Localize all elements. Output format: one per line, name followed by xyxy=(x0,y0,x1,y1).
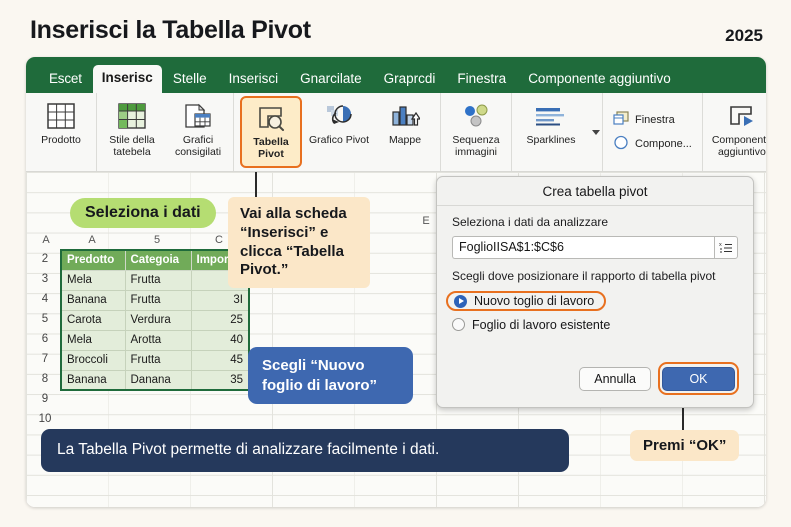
chevron-down-icon[interactable] xyxy=(592,130,600,135)
ribbon-group-sparklines: Sparklines xyxy=(512,93,603,171)
ok-button[interactable]: OK xyxy=(662,367,734,391)
row-header-9[interactable]: 9 xyxy=(32,389,58,409)
ribbon-button-label: Grafico Pivot xyxy=(309,135,369,147)
ribbon-button-sequenza-immagini[interactable]: Sequenza immagini xyxy=(443,93,509,171)
ribbon-row-label: Finestra xyxy=(635,114,675,126)
row-header-4[interactable]: 4 xyxy=(32,289,58,309)
row-header-5[interactable]: 5 xyxy=(32,309,58,329)
table-row[interactable]: Carota Verdura 25 xyxy=(61,310,249,330)
ribbon-tab-finestra[interactable]: Finestra xyxy=(446,67,517,94)
ribbon-button-grafici-consigliati[interactable]: Grafici consigilati xyxy=(165,93,231,171)
table-row[interactable]: Broccoli Frutta 45 xyxy=(61,350,249,370)
callout-premi-ok: Premi “OK” xyxy=(630,430,739,461)
sparklines-icon xyxy=(533,100,569,132)
ribbon-button-grafico-pivot[interactable]: Grafico Pivot xyxy=(306,93,372,171)
cell-product[interactable]: Broccoli xyxy=(61,350,125,370)
ribbon-button-label: Stile della tatebela xyxy=(99,135,165,159)
maps-icon xyxy=(390,100,420,132)
ribbon-button-mappe[interactable]: Mappe xyxy=(372,93,438,171)
radio-option-existing-worksheet[interactable]: Foglio di lavoro esistente xyxy=(452,314,738,335)
component-circle-icon xyxy=(613,135,629,153)
page-header: Inserisci la Tabella Pivot 2025 xyxy=(0,0,791,56)
ribbon-tab-bar: Escet Inserisc Stelle Inserisci Gnarcila… xyxy=(26,57,766,93)
column-header-predotto[interactable]: Predotto xyxy=(61,250,125,270)
row-header-10[interactable]: 10 xyxy=(32,409,58,429)
year-label: 2025 xyxy=(725,26,763,46)
cell-amount[interactable]: 40 xyxy=(191,330,249,350)
ribbon-stack-finestra: Finestra Compone... xyxy=(605,93,700,171)
callout-seleziona-dati: Seleziona i dati xyxy=(70,198,216,228)
recommended-charts-icon xyxy=(183,100,213,132)
ribbon-tab-stelle[interactable]: Stelle xyxy=(162,67,218,94)
range-input[interactable]: FoglioIISA$1:$C$6 xyxy=(452,236,714,259)
row-header-8[interactable]: 8 xyxy=(32,369,58,389)
column-header-b[interactable]: 5 xyxy=(124,231,190,249)
cell-amount[interactable]: 35 xyxy=(191,370,249,390)
table-row[interactable]: Mela Arotta 40 xyxy=(61,330,249,350)
cell-category[interactable]: Arotta xyxy=(125,330,191,350)
cell-product[interactable]: Mela xyxy=(61,270,125,290)
callout-summary: La Tabella Pivot permette di analizzare … xyxy=(41,429,569,472)
pivot-chart-icon xyxy=(324,100,354,132)
ribbon-tab-inserisci[interactable]: Inserisc xyxy=(93,65,162,94)
ribbon-button-tabella-pivot[interactable]: Tabella Pivot xyxy=(240,96,302,168)
row-header-7[interactable]: 7 xyxy=(32,349,58,369)
ribbon-tab-file[interactable]: Escet xyxy=(38,67,93,94)
table-header-row: Predotto Categoia Importo xyxy=(61,250,249,270)
addin-icon xyxy=(727,100,757,132)
ribbon-button-stile-tabella[interactable]: Stile della tatebela xyxy=(99,93,165,171)
cell-category[interactable]: Frutta xyxy=(125,290,191,310)
ribbon-button-label: Componente aggiuntivo xyxy=(705,135,766,159)
ribbon-button-label: Tabella Pivot xyxy=(242,137,300,161)
table-row[interactable]: Banana Danana 35 xyxy=(61,370,249,390)
cell-amount[interactable]: 25 xyxy=(191,310,249,330)
range-picker-icon[interactable]: x xyxy=(714,236,738,259)
ribbon-button-label: Grafici consigilati xyxy=(165,135,231,159)
ribbon-group-pivot: Tabella Pivot Grafico Pivot xyxy=(234,93,441,171)
image-sequence-icon xyxy=(461,100,491,132)
cell-amount[interactable]: 45 xyxy=(191,350,249,370)
placement-label: Scegli dove posizionare il rapporto di t… xyxy=(452,269,738,285)
ribbon-row-label: Compone... xyxy=(635,138,692,150)
column-header-a0[interactable]: A xyxy=(32,231,60,249)
cell-category[interactable]: Frutta xyxy=(125,270,191,290)
create-pivot-table-dialog: Crea tabella pivot Seleziona i dati da a… xyxy=(436,176,754,408)
row-header-6[interactable]: 6 xyxy=(32,329,58,349)
radio-option-new-worksheet[interactable]: Nuovo toglio di lavoro xyxy=(446,291,606,311)
ribbon-tab-gnarcilate[interactable]: Gnarcilate xyxy=(289,67,373,94)
svg-text:x: x xyxy=(719,242,722,248)
table-row[interactable]: Banana Frutta 3I xyxy=(61,290,249,310)
cancel-button[interactable]: Annulla xyxy=(579,367,651,391)
ok-button-highlight: OK xyxy=(658,362,739,395)
page-title: Inserisci la Tabella Pivot xyxy=(30,16,311,45)
ribbon-button-finestra[interactable]: Finestra xyxy=(613,111,692,129)
row-header-2[interactable]: 2 xyxy=(32,249,58,269)
radio-unselected-icon[interactable] xyxy=(452,318,465,331)
ribbon-group-addin: Componente aggiuntivo xyxy=(703,93,766,171)
ribbon-button-componente-aggiuntivo[interactable]: Componente aggiuntivo xyxy=(705,93,766,171)
cell-product[interactable]: Carota xyxy=(61,310,125,330)
ribbon-toolbar: Prodotto Stile della ta xyxy=(26,93,766,172)
cell-category[interactable]: Danana xyxy=(125,370,191,390)
range-field-label: Seleziona i dati da analizzare xyxy=(452,215,738,231)
range-field-group: FoglioIISA$1:$C$6 x xyxy=(452,236,738,259)
table-style-icon xyxy=(118,100,146,132)
ribbon-group-prodotto: Prodotto xyxy=(26,93,97,171)
ribbon-button-label: Sequenza immagini xyxy=(443,135,509,159)
ribbon-button-label: Prodotto xyxy=(41,135,81,147)
pivot-table-icon xyxy=(257,102,285,134)
data-table[interactable]: Predotto Categoia Importo Mela Frutta 5 … xyxy=(60,249,250,391)
ribbon-group-sequenza: Sequenza immagini xyxy=(441,93,512,171)
radio-selected-icon[interactable] xyxy=(454,295,467,308)
dialog-title: Crea tabella pivot xyxy=(437,177,753,206)
radio-option-existing-label: Foglio di lavoro esistente xyxy=(472,318,610,332)
ribbon-button-prodotto[interactable]: Prodotto xyxy=(28,93,94,171)
radio-option-new-label: Nuovo toglio di lavoro xyxy=(474,294,594,308)
ribbon-tab-componente-aggiuntivo[interactable]: Componente aggiuntivo xyxy=(517,67,682,94)
callout-vai-alla-scheda: Vai alla scheda “Inserisci” e clicca “Ta… xyxy=(228,197,370,288)
table-grid-icon xyxy=(47,100,75,132)
dialog-body: Seleziona i dati da analizzare FoglioIIS… xyxy=(437,206,753,335)
column-header-categoia[interactable]: Categoia xyxy=(125,250,191,270)
row-header-3[interactable]: 3 xyxy=(32,269,58,289)
ribbon-group-tabelle: Stile della tatebela Grafici consigilati xyxy=(97,93,234,171)
window-icon xyxy=(613,111,629,129)
ribbon-button-label: Sparklines xyxy=(526,135,575,147)
table-row[interactable]: Mela Frutta 5 xyxy=(61,270,249,290)
callout-leader-line xyxy=(255,172,257,197)
cell-category[interactable]: Frutta xyxy=(125,350,191,370)
ribbon-button-componente[interactable]: Compone... xyxy=(613,135,692,153)
ribbon-tab-graprcdi[interactable]: Graprcdi xyxy=(373,67,447,94)
ribbon-button-sparklines[interactable]: Sparklines xyxy=(514,93,588,171)
ribbon-group-finestra: Finestra Compone... xyxy=(603,93,703,171)
cell-category[interactable]: Verdura xyxy=(125,310,191,330)
cell-product[interactable]: Banana xyxy=(61,290,125,310)
callout-scegli-nuovo-foglio: Scegli “Nuovo foglio di lavoro” xyxy=(248,347,413,404)
dialog-button-row: Annulla OK xyxy=(579,362,739,395)
cell-amount[interactable]: 3I xyxy=(191,290,249,310)
ribbon-button-label: Mappe xyxy=(389,135,421,147)
column-header-a[interactable]: A xyxy=(60,231,124,249)
cell-product[interactable]: Mela xyxy=(61,330,125,350)
ribbon-tab-inserisci-2[interactable]: Inserisci xyxy=(218,67,290,94)
cell-product[interactable]: Banana xyxy=(61,370,125,390)
